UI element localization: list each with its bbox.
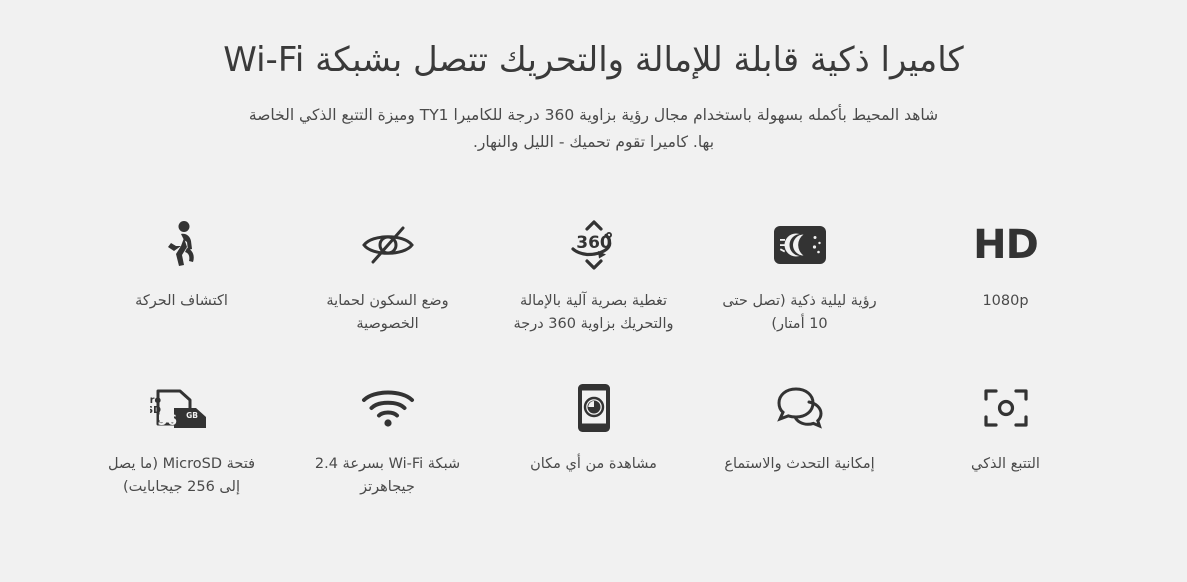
feature-label: فتحة MicroSD (ما يصل إلى 256 جيجابايت) [96, 453, 268, 498]
feature-label: إمكانية التحدث والاستماع [714, 453, 886, 475]
feature-label: تغطية بصرية آلية بالإمالة والتحريك بزاوي… [508, 290, 680, 335]
feature-item-tracking: التتبع الذكي [913, 377, 1099, 475]
feature-label: التتبع الذكي [920, 453, 1092, 475]
feature-item-privacy: وضع السكون لحماية الخصوصية [295, 214, 481, 335]
feature-item-microsd: Micro SD 256 GB فتحة MicroSD (ما يصل إلى… [89, 377, 275, 498]
feature-item-pan-tilt: 360 تغطية بصرية آلية بالإمالة والتحريك ب… [501, 214, 687, 335]
smart-tracking-icon [982, 377, 1030, 439]
feature-label: 1080p [920, 290, 1092, 312]
privacy-eye-slash-icon [359, 214, 417, 276]
wifi-icon [360, 377, 416, 439]
feature-label: شبكة Wi-Fi بسرعة 2.4 جيجاهرتز [302, 453, 474, 498]
feature-item-night-vision: رؤية ليلية ذكية (تصل حتى 10 أمتار) [707, 214, 893, 335]
feature-row: التتبع الذكي إمكانية التحدث والاستماع [89, 377, 1099, 498]
hd-icon: HD [973, 214, 1038, 276]
page-subtitle: شاهد المحيط بأكمله بسهولة باستخدام مجال … [244, 84, 944, 156]
feature-label: وضع السكون لحماية الخصوصية [302, 290, 474, 335]
feature-item-wifi: شبكة Wi-Fi بسرعة 2.4 جيجاهرتز [295, 377, 481, 498]
feature-row: HD 1080p [89, 214, 1099, 335]
feature-item-motion: اكتشاف الحركة [89, 214, 275, 312]
night-vision-icon [773, 214, 827, 276]
svg-text:GB: GB [186, 411, 198, 420]
feature-item-two-way-talk: إمكانية التحدث والاستماع [707, 377, 893, 475]
feature-label: رؤية ليلية ذكية (تصل حتى 10 أمتار) [714, 290, 886, 335]
smartphone-view-icon [575, 377, 613, 439]
microsd-card-icon: Micro SD 256 GB [150, 377, 214, 439]
page-title: كاميرا ذكية قابلة للإمالة والتحريك تتصل … [0, 0, 1187, 84]
feature-page: كاميرا ذكية قابلة للإمالة والتحريك تتصل … [0, 0, 1187, 582]
feature-item-hd: HD 1080p [913, 214, 1099, 312]
svg-text:256: 256 [150, 413, 177, 429]
two-way-talk-icon [772, 377, 828, 439]
feature-item-view-anywhere: مشاهدة من أي مكان [501, 377, 687, 475]
feature-grid: HD 1080p [89, 156, 1099, 498]
feature-label: اكتشاف الحركة [96, 290, 268, 312]
pan-tilt-360-icon: 360 [565, 214, 623, 276]
hd-icon-label: HD [973, 225, 1038, 265]
motion-detection-icon [162, 214, 202, 276]
feature-label: مشاهدة من أي مكان [508, 453, 680, 475]
